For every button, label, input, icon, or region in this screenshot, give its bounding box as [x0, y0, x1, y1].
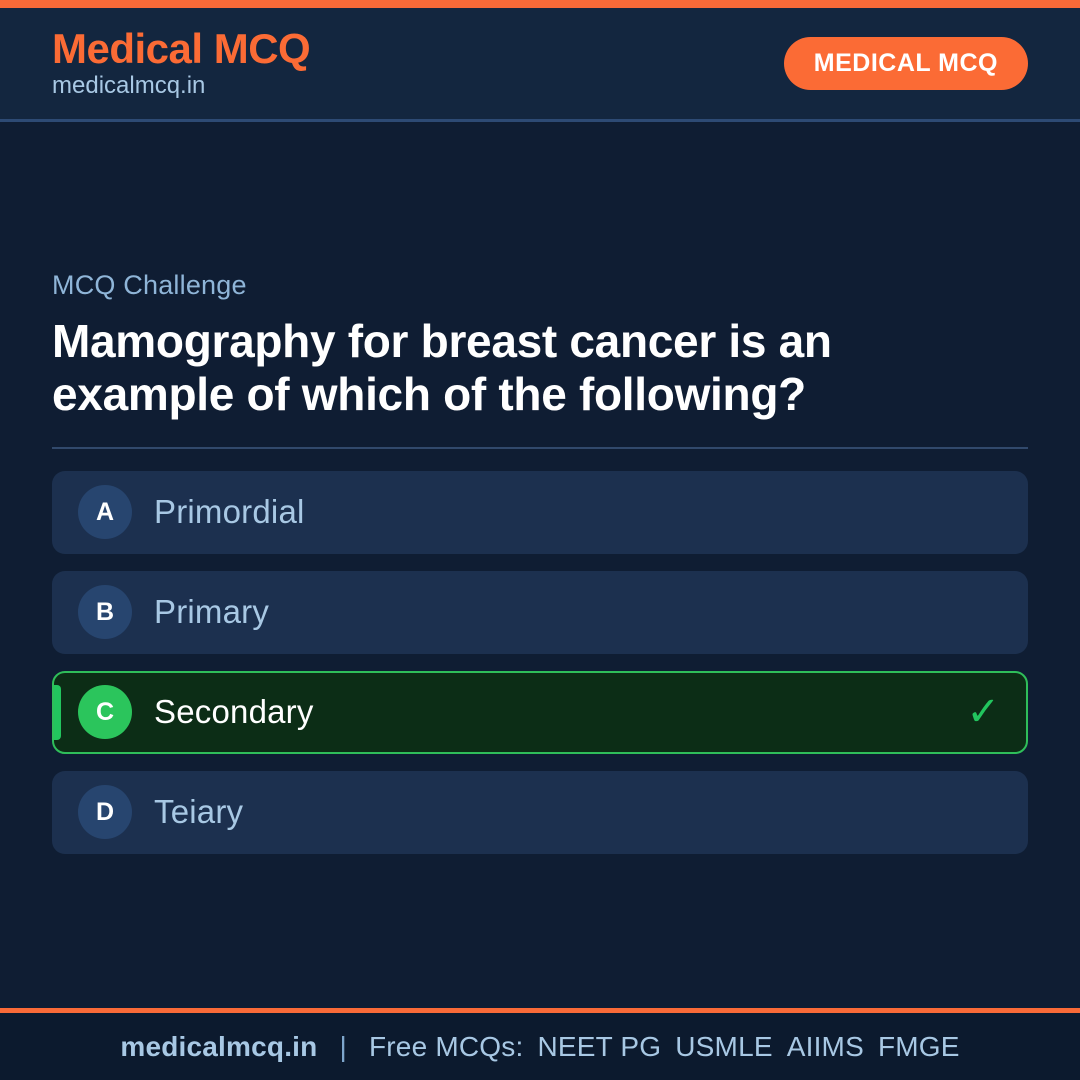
option-a-badge: A: [78, 485, 132, 539]
selected-accent-bar: [54, 685, 61, 740]
main-content: MCQ Challenge Mamography for breast canc…: [0, 122, 1080, 1008]
eyebrow-label: MCQ Challenge: [52, 270, 1028, 301]
page-header: Medical MCQ medicalmcq.in MEDICAL MCQ: [0, 8, 1080, 122]
footer-site: medicalmcq.in: [120, 1031, 317, 1063]
brand-title: Medical MCQ: [52, 27, 310, 71]
footer-exam-neetpg: NEET PG: [537, 1031, 661, 1063]
page-footer: medicalmcq.in | Free MCQs: NEET PG USMLE…: [0, 1008, 1080, 1080]
option-a[interactable]: A Primordial: [52, 471, 1028, 554]
section-divider: [52, 447, 1028, 449]
option-b[interactable]: B Primary: [52, 571, 1028, 654]
footer-exam-aiims: AIIMS: [787, 1031, 864, 1063]
option-b-label: Primary: [154, 593, 269, 631]
footer-exams-label: Free MCQs:: [369, 1031, 523, 1063]
brand-block: Medical MCQ medicalmcq.in: [52, 27, 310, 99]
option-a-label: Primordial: [154, 493, 305, 531]
option-c[interactable]: C Secondary ✓: [52, 671, 1028, 754]
option-d[interactable]: D Teiary: [52, 771, 1028, 854]
footer-exam-usmle: USMLE: [675, 1031, 772, 1063]
question-text: Mamography for breast cancer is an examp…: [52, 315, 1012, 421]
check-icon: ✓: [966, 692, 1000, 732]
footer-separator: |: [339, 1031, 346, 1063]
brand-badge: MEDICAL MCQ: [784, 37, 1028, 90]
footer-exam-fmge: FMGE: [878, 1031, 960, 1063]
option-c-badge: C: [78, 685, 132, 739]
option-b-badge: B: [78, 585, 132, 639]
top-accent-bar: [0, 0, 1080, 8]
option-c-label: Secondary: [154, 693, 314, 731]
option-d-badge: D: [78, 785, 132, 839]
brand-subtitle: medicalmcq.in: [52, 73, 310, 99]
option-d-label: Teiary: [154, 793, 243, 831]
options-list: A Primordial B Primary C Secondary ✓ D T…: [52, 471, 1028, 854]
